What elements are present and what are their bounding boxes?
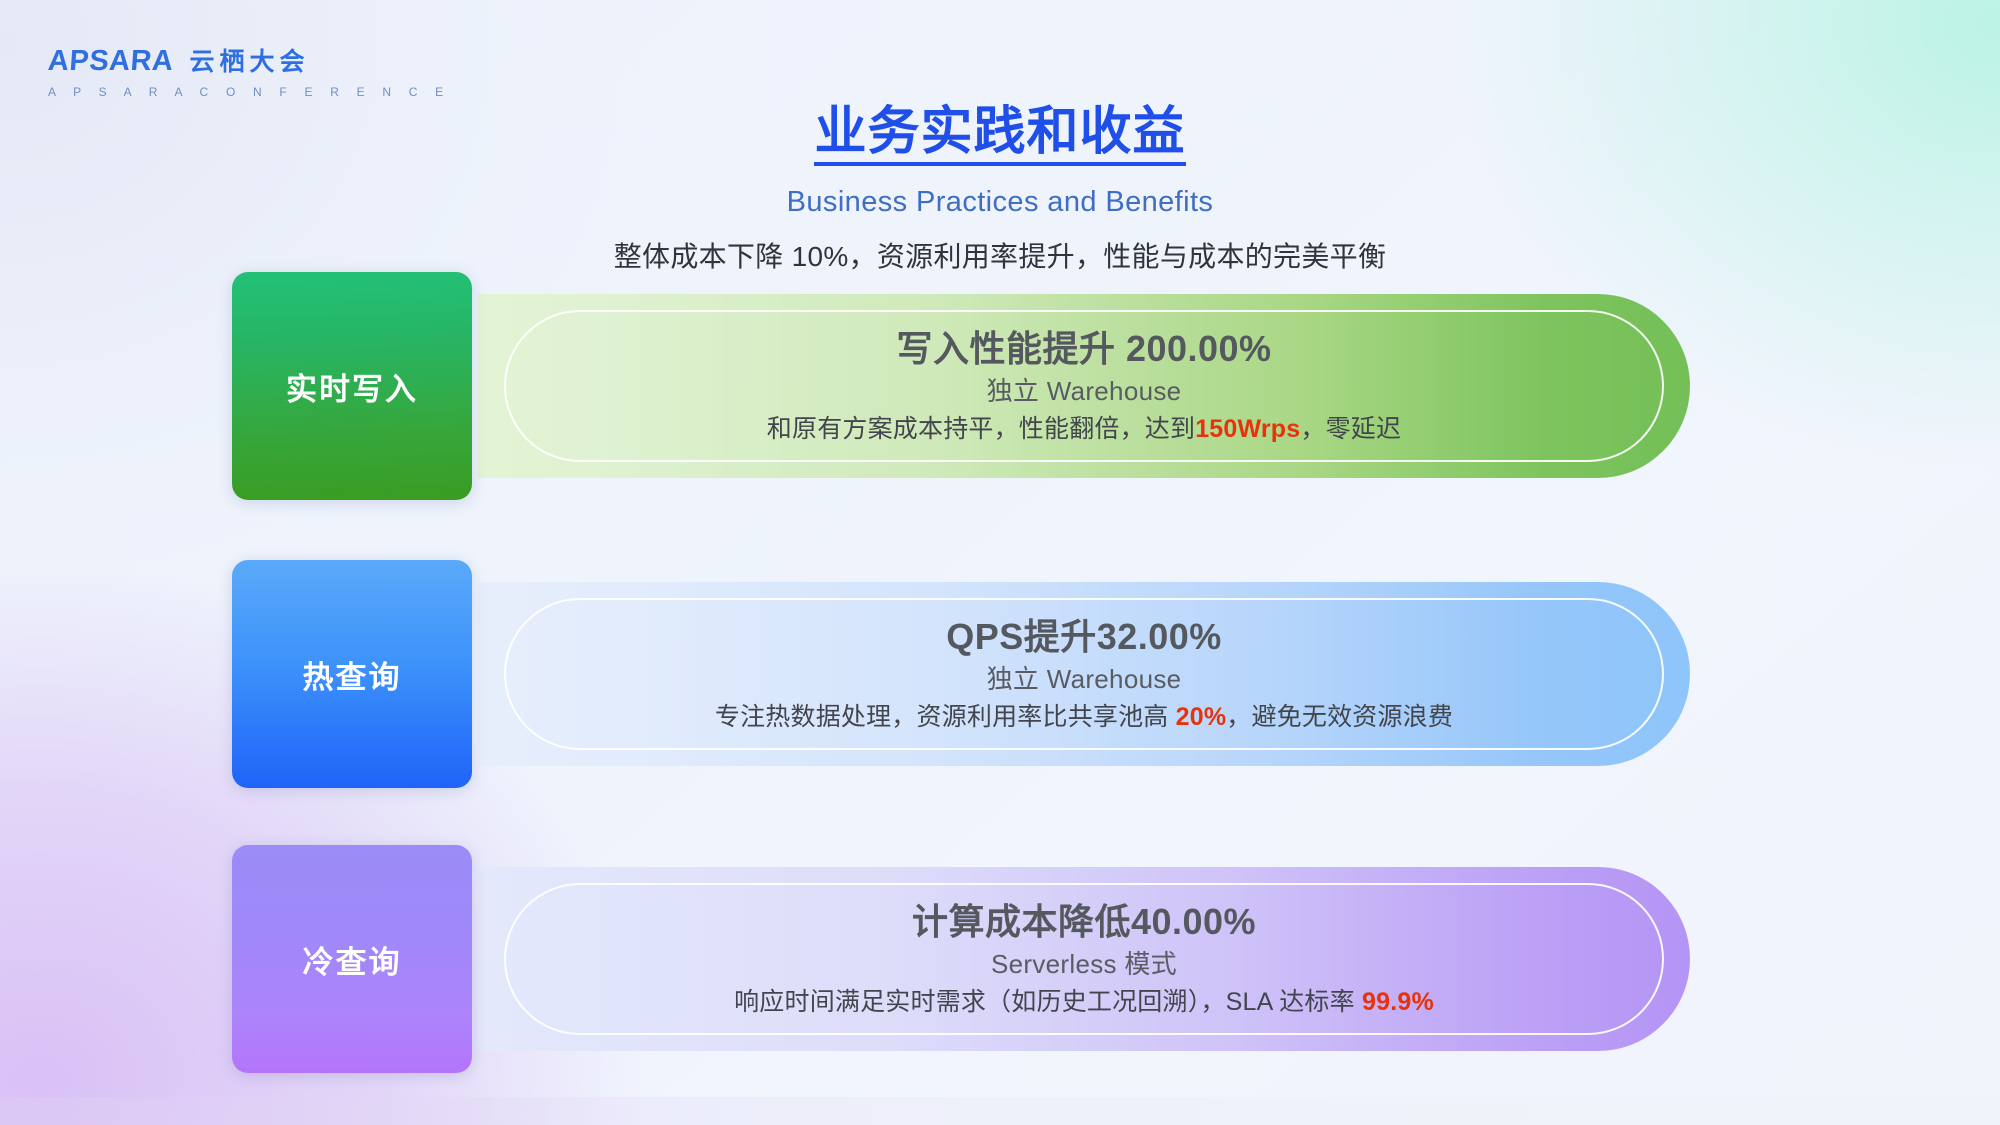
- pill-detail: 响应时间满足实时需求（如历史工况回溯），SLA 达标率 99.9%: [734, 987, 1434, 1018]
- pill-detail-prefix: 和原有方案成本持平，性能翻倍，达到: [767, 415, 1195, 443]
- pill-mode: 独立 Warehouse: [987, 376, 1182, 407]
- benefit-row-hot-query: 热查询 QPS提升32.00% 独立 Warehouse 专注热数据处理，资源利…: [0, 560, 2000, 790]
- benefit-row-cold-query: 冷查询 计算成本降低40.00% Serverless 模式 响应时间满足实时需…: [0, 845, 2000, 1075]
- apsara-conference-logo: APSARA 云栖大会 A P S A R A C O N F E R E N …: [48, 42, 348, 99]
- pill-content-hot-query: QPS提升32.00% 独立 Warehouse 专注热数据处理，资源利用率比共…: [478, 582, 1690, 766]
- slide-header: 业务实践和收益 Business Practices and Benefits …: [0, 104, 2000, 275]
- pill-detail-prefix: 响应时间满足实时需求（如历史工况回溯），SLA 达标率: [734, 988, 1362, 1016]
- page-title-wrapper: 业务实践和收益: [0, 104, 2000, 166]
- pill-headline: 写入性能提升 200.00%: [896, 327, 1271, 370]
- pill-detail-prefix: 专注热数据处理，资源利用率比共享池高: [715, 703, 1176, 731]
- pill-detail-suffix: ，避免无效资源浪费: [1226, 703, 1453, 731]
- badge-label: 冷查询: [303, 937, 402, 982]
- pill-detail-suffix: ，零延迟: [1300, 415, 1401, 443]
- bottom-accent-strip: [0, 1097, 2000, 1125]
- badge-label: 热查询: [303, 652, 402, 697]
- pill-detail: 和原有方案成本持平，性能翻倍，达到150Wrps，零延迟: [767, 414, 1401, 445]
- slide-canvas: APSARA 云栖大会 A P S A R A C O N F E R E N …: [0, 0, 2000, 1125]
- benefit-row-realtime-write: 实时写入 写入性能提升 200.00% 独立 Warehouse 和原有方案成本…: [0, 272, 2000, 502]
- logo-wordmark-row: APSARA 云栖大会: [48, 42, 348, 78]
- pill-mode: Serverless 模式: [991, 949, 1177, 980]
- page-title: 业务实践和收益: [814, 104, 1185, 166]
- badge-hot-query[interactable]: 热查询: [232, 560, 472, 788]
- pill-content-cold-query: 计算成本降低40.00% Serverless 模式 响应时间满足实时需求（如历…: [478, 867, 1690, 1051]
- badge-cold-query[interactable]: 冷查询: [232, 845, 472, 1073]
- pill-detail-highlight: 20%: [1176, 703, 1227, 731]
- pill-mode: 独立 Warehouse: [987, 664, 1182, 695]
- pill-content-realtime-write: 写入性能提升 200.00% 独立 Warehouse 和原有方案成本持平，性能…: [478, 294, 1690, 478]
- pill-headline: 计算成本降低40.00%: [912, 900, 1256, 943]
- badge-label: 实时写入: [286, 364, 418, 409]
- page-tagline: 整体成本下降 10%，资源利用率提升，性能与成本的完美平衡: [0, 235, 2000, 275]
- logo-apsara-text: APSARA: [47, 45, 175, 78]
- page-subtitle: Business Practices and Benefits: [0, 186, 2000, 219]
- pill-detail-highlight: 99.9%: [1362, 988, 1434, 1016]
- logo-subtitle-text: A P S A R A C O N F E R E N C E: [48, 85, 348, 99]
- pill-detail: 专注热数据处理，资源利用率比共享池高 20%，避免无效资源浪费: [715, 702, 1453, 733]
- pill-headline: QPS提升32.00%: [946, 615, 1222, 658]
- badge-realtime-write[interactable]: 实时写入: [232, 272, 472, 500]
- pill-detail-highlight: 150Wrps: [1195, 415, 1300, 443]
- logo-chinese-text: 云栖大会: [189, 42, 309, 78]
